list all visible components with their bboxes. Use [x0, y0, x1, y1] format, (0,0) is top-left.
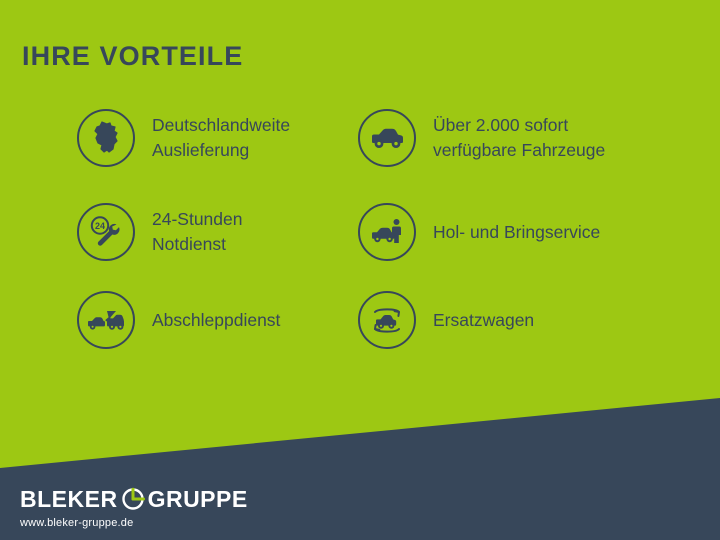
wrench-24h-icon: 24 — [77, 203, 135, 261]
feature-item: Ersatzwagen — [358, 291, 534, 349]
logo-brand-first: BLEKER — [20, 486, 118, 513]
tow-truck-icon — [77, 291, 135, 349]
logo-block: BLEKER GRUPPE www.bleker-gruppe.de — [20, 485, 248, 529]
logo-row: BLEKER GRUPPE — [20, 485, 248, 513]
svg-text:24: 24 — [95, 221, 105, 231]
feature-label: 24-Stunden Notdienst — [152, 207, 243, 257]
feature-item: Abschleppdienst — [77, 291, 280, 349]
logo-brand-second: GRUPPE — [148, 486, 248, 513]
car-side-icon — [358, 109, 416, 167]
car-person-icon — [358, 203, 416, 261]
features-list: Deutschlandweite Auslieferung Über 2.000… — [0, 0, 720, 400]
car-arrows-icon — [358, 291, 416, 349]
germany-map-icon — [77, 109, 135, 167]
feature-label: Über 2.000 sofort verfügbare Fahrzeuge — [433, 113, 605, 163]
feature-item: Hol- und Bringservice — [358, 203, 600, 261]
feature-label: Ersatzwagen — [433, 308, 534, 333]
slide: IHRE VORTEILE Deutschlandweite Ausliefer… — [0, 0, 720, 540]
feature-label: Abschleppdienst — [152, 308, 280, 333]
website-url: www.bleker-gruppe.de — [20, 517, 248, 529]
logo-ring-icon — [120, 486, 146, 512]
feature-item: Deutschlandweite Auslieferung — [77, 109, 290, 167]
feature-label: Hol- und Bringservice — [433, 220, 600, 245]
feature-item: 24 24-Stunden Notdienst — [77, 203, 243, 261]
feature-label: Deutschlandweite Auslieferung — [152, 113, 290, 163]
feature-item: Über 2.000 sofort verfügbare Fahrzeuge — [358, 109, 605, 167]
